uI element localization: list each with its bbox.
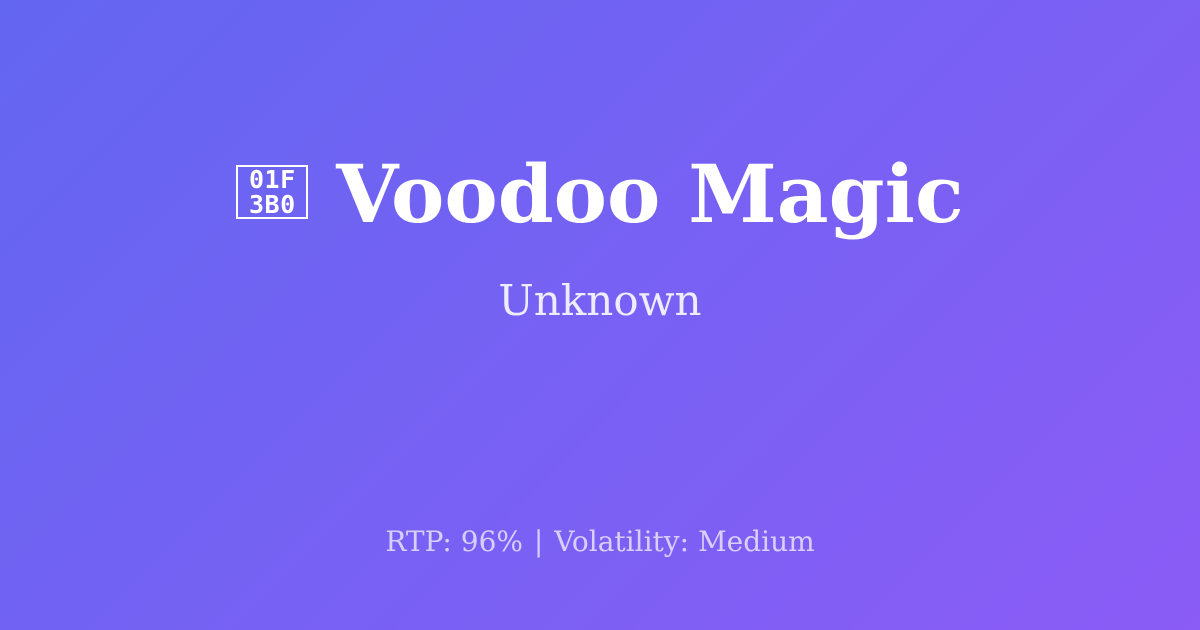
rtp-value: 96% xyxy=(461,525,523,558)
page-subtitle: Unknown xyxy=(498,280,701,322)
page-title: Voodoo Magic xyxy=(336,154,963,234)
meta-separator: | xyxy=(532,525,545,558)
volatility-value: Medium xyxy=(698,525,815,558)
hero-block: 01F 3B0 Voodoo Magic Unknown xyxy=(0,0,1200,475)
title-row: 01F 3B0 Voodoo Magic xyxy=(236,154,963,234)
og-share-card: 01F 3B0 Voodoo Magic Unknown RTP: 96% | … xyxy=(0,0,1200,630)
glyph-hex-bottom: 3B0 xyxy=(249,192,296,217)
glyph-hex-top: 01F xyxy=(249,167,296,192)
card-meta-footer: RTP: 96% | Volatility: Medium xyxy=(0,528,1200,556)
slot-machine-emoji-icon: 01F 3B0 xyxy=(236,165,308,219)
volatility-label: Volatility: xyxy=(554,525,689,558)
rtp-label: RTP: xyxy=(385,525,452,558)
